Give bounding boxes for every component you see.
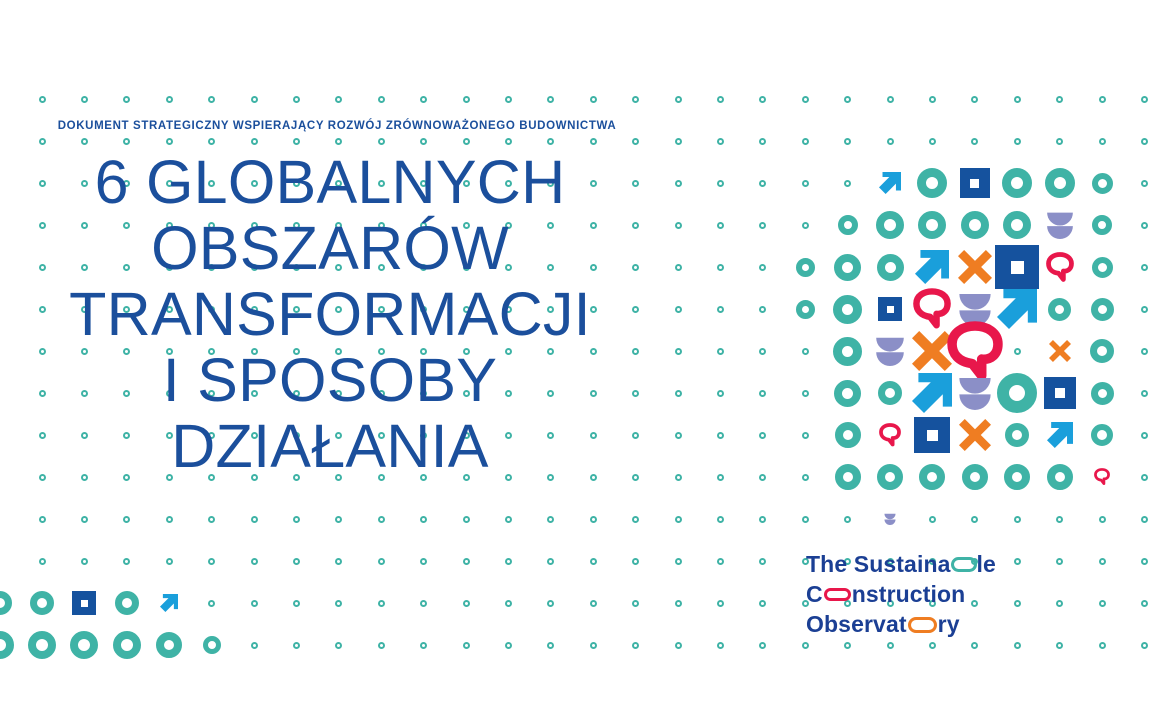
page-title-line-1: 6 GLOBALNYCH [28,150,632,216]
ring-dot-icon [208,516,215,523]
ring-dot-icon [844,516,851,523]
logo-line-3: Observatry [806,609,1066,639]
ring-icon [835,464,861,490]
double-bowl-icon [958,376,992,410]
ring-icon [1048,298,1071,321]
ring-icon [834,380,861,407]
page-title-line-4: I SPOSOBY [28,348,632,414]
ring-dot-icon [1141,432,1148,439]
ring-dot-icon [675,642,682,649]
logo-line-3-suffix: ry [938,611,960,637]
ring-dot-icon [1099,600,1106,607]
ring-dot-icon [463,600,470,607]
ring-icon [997,373,1037,413]
ring-icon [28,631,56,659]
ring-icon [203,636,221,654]
ring-dot-icon [293,600,300,607]
square-dot-icon [1044,377,1076,409]
logo-line-3-prefix: Observat [806,611,907,637]
arrow-up-right-icon [879,172,901,194]
ring-dot-icon [251,600,258,607]
ring-dot-icon [590,96,597,103]
ring-dot-icon [81,96,88,103]
ring-dot-icon [759,306,766,313]
ring-dot-icon [1141,96,1148,103]
ring-icon [1092,215,1112,235]
ring-dot-icon [420,558,427,565]
ring-dot-icon [420,96,427,103]
ring-dot-icon [39,96,46,103]
ring-dot-icon [1141,558,1148,565]
square-dot-icon [960,168,990,198]
ring-icon [1091,298,1114,321]
ring-dot-icon [717,642,724,649]
speech-bubble-icon [879,424,901,446]
ring-dot-icon [1141,306,1148,313]
ring-dot-icon [1141,390,1148,397]
ring-icon [876,211,904,239]
ring-dot-icon [717,306,724,313]
ring-dot-icon [1099,138,1106,145]
ring-dot-icon [759,600,766,607]
ring-dot-icon [717,390,724,397]
ring-dot-icon [802,642,809,649]
ring-icon [917,168,947,198]
page-title: 6 GLOBALNYCHOBSZARÓWTRANSFORMACJII SPOSO… [0,150,660,479]
ring-icon [877,254,904,281]
ring-icon [918,211,946,239]
square-dot-icon [914,417,950,453]
ring-dot-icon [675,600,682,607]
ring-icon [1045,168,1075,198]
ring-dot-icon [675,138,682,145]
ring-icon [0,631,14,659]
ring-dot-icon [590,558,597,565]
ring-dot-icon [717,432,724,439]
double-bowl-icon [1046,211,1074,239]
ring-dot-icon [675,180,682,187]
speech-bubble-icon [1046,253,1074,281]
square-dot-icon [878,297,902,321]
logo-line-1-prefix: The Sustaina [806,551,951,577]
slide-canvas: DOKUMENT STRATEGICZNY WSPIERAJĄCY ROZWÓJ… [0,0,1160,726]
ring-icon [1002,168,1032,198]
ring-dot-icon [1141,180,1148,187]
ring-dot-icon [929,96,936,103]
logo-pill-o-observatory-icon [908,617,937,633]
ring-dot-icon [929,642,936,649]
cross-x-icon [958,250,992,284]
ring-dot-icon [717,474,724,481]
ring-dot-icon [1056,516,1063,523]
ring-dot-icon [293,516,300,523]
ring-dot-icon [123,96,130,103]
ring-dot-icon [166,558,173,565]
ring-icon [30,591,54,615]
ring-dot-icon [887,96,894,103]
ring-dot-icon [675,432,682,439]
ring-dot-icon [123,516,130,523]
ring-dot-icon [759,516,766,523]
ring-dot-icon [802,138,809,145]
ring-dot-icon [463,642,470,649]
ring-dot-icon [1099,558,1106,565]
ring-dot-icon [971,642,978,649]
ring-icon [834,254,861,281]
ring-icon [1003,211,1031,239]
ring-dot-icon [1141,264,1148,271]
ring-dot-icon [251,96,258,103]
ring-dot-icon [759,390,766,397]
ring-dot-icon [632,516,639,523]
page-title-line-3: TRANSFORMACJI [28,282,632,348]
ring-dot-icon [1056,96,1063,103]
ring-dot-icon [632,600,639,607]
ring-dot-icon [1141,600,1148,607]
ring-icon [878,381,902,405]
ring-dot-icon [675,222,682,229]
ring-dot-icon [759,138,766,145]
ring-dot-icon [887,642,894,649]
ring-dot-icon [378,642,385,649]
ring-icon [796,300,815,319]
ring-dot-icon [590,600,597,607]
ring-dot-icon [802,222,809,229]
ring-dot-icon [1141,222,1148,229]
ring-icon [1004,464,1030,490]
ring-dot-icon [675,516,682,523]
ring-dot-icon [802,180,809,187]
title-block: DOKUMENT STRATEGICZNY WSPIERAJĄCY ROZWÓJ… [0,120,660,479]
logo-pill-o-construction-icon [824,588,851,601]
ring-dot-icon [547,558,554,565]
ring-dot-icon [1141,138,1148,145]
ring-dot-icon [1014,348,1021,355]
ring-dot-icon [547,96,554,103]
ring-dot-icon [717,96,724,103]
ring-dot-icon [802,390,809,397]
ring-dot-icon [887,138,894,145]
ring-icon [1091,424,1113,446]
ring-dot-icon [717,264,724,271]
page-title-line-5: DZIAŁANIA [28,414,632,480]
ring-dot-icon [717,180,724,187]
ring-dot-icon [929,138,936,145]
ring-dot-icon [675,474,682,481]
ring-icon [919,464,945,490]
ring-icon [835,422,861,448]
ring-dot-icon [166,96,173,103]
logo-pill-b-icon [951,557,977,572]
ring-dot-icon [463,516,470,523]
ring-dot-icon [420,516,427,523]
ring-dot-icon [335,642,342,649]
ring-dot-icon [335,600,342,607]
ring-dot-icon [675,390,682,397]
ring-dot-icon [844,642,851,649]
ring-icon [1090,339,1114,363]
ring-dot-icon [39,558,46,565]
ring-icon [1047,464,1073,490]
ring-dot-icon [1014,642,1021,649]
ring-dot-icon [844,180,851,187]
logo-line-1: The Sustainale [806,549,1066,579]
ring-dot-icon [759,180,766,187]
ring-dot-icon [929,516,936,523]
ring-icon [833,337,862,366]
arrow-up-right-icon [915,250,949,284]
ring-icon [833,295,862,324]
ring-icon [70,631,98,659]
ring-icon [962,464,988,490]
ring-icon [1091,382,1114,405]
ring-icon [838,215,858,235]
speech-bubble-icon [1094,469,1110,485]
ring-dot-icon [675,558,682,565]
ring-dot-icon [844,96,851,103]
ring-dot-icon [335,516,342,523]
arrow-up-right-icon [912,373,952,413]
logo-line-1-suffix: le [977,551,996,577]
ring-dot-icon [759,432,766,439]
ring-dot-icon [251,516,258,523]
ring-dot-icon [293,558,300,565]
ring-dot-icon [590,516,597,523]
ring-dot-icon [378,516,385,523]
ring-dot-icon [505,600,512,607]
ring-dot-icon [675,348,682,355]
cross-x-icon [959,419,991,451]
ring-dot-icon [1099,96,1106,103]
ring-dot-icon [81,516,88,523]
ring-dot-icon [717,600,724,607]
ring-dot-icon [1099,642,1106,649]
ring-dot-icon [335,558,342,565]
ring-dot-icon [802,348,809,355]
arrow-up-right-icon [160,594,178,612]
ring-dot-icon [675,96,682,103]
ring-dot-icon [675,264,682,271]
ring-dot-icon [505,558,512,565]
ring-dot-icon [632,558,639,565]
ring-icon [1005,423,1029,447]
ring-dot-icon [717,348,724,355]
ring-dot-icon [293,642,300,649]
ring-icon [113,631,141,659]
cross-x-icon [912,331,952,371]
ring-dot-icon [971,516,978,523]
ring-dot-icon [1141,642,1148,649]
ring-dot-icon [1141,348,1148,355]
ring-dot-icon [759,222,766,229]
ring-dot-icon [1141,474,1148,481]
ring-dot-icon [123,558,130,565]
ring-dot-icon [759,264,766,271]
ring-dot-icon [759,474,766,481]
double-bowl-icon [958,292,992,326]
ring-dot-icon [420,642,427,649]
ring-icon [877,464,903,490]
ring-dot-icon [463,558,470,565]
ring-dot-icon [675,306,682,313]
ring-dot-icon [1014,516,1021,523]
ring-dot-icon [632,96,639,103]
logo-sustainable-construction-observatory: The Sustainale Cnstruction Observatry [806,549,1066,639]
ring-dot-icon [759,348,766,355]
ring-dot-icon [1056,642,1063,649]
ring-dot-icon [971,96,978,103]
ring-dot-icon [420,600,427,607]
double-bowl-icon [884,513,896,525]
ring-dot-icon [505,96,512,103]
ring-dot-icon [632,642,639,649]
ring-dot-icon [717,558,724,565]
ring-dot-icon [208,96,215,103]
ring-dot-icon [166,516,173,523]
ring-dot-icon [251,642,258,649]
ring-dot-icon [293,96,300,103]
ring-dot-icon [802,474,809,481]
ring-dot-icon [759,96,766,103]
speech-bubble-icon [913,290,951,328]
ring-dot-icon [251,558,258,565]
ring-dot-icon [39,516,46,523]
logo-line-2: Cnstruction [806,579,1066,609]
ring-dot-icon [547,642,554,649]
ring-dot-icon [208,600,215,607]
ring-dot-icon [717,222,724,229]
ring-dot-icon [844,138,851,145]
arrow-up-right-icon [997,289,1037,329]
page-title-line-2: OBSZARÓW [28,216,632,282]
ring-dot-icon [505,642,512,649]
ring-dot-icon [208,558,215,565]
ring-dot-icon [802,516,809,523]
ring-icon [1092,173,1113,194]
ring-icon [115,591,139,615]
ring-icon [796,258,815,277]
ring-dot-icon [971,138,978,145]
ring-icon [961,211,989,239]
ring-icon [0,591,12,615]
ring-dot-icon [802,432,809,439]
double-bowl-icon [875,336,905,366]
arrow-up-right-icon [1047,422,1073,448]
ring-dot-icon [81,558,88,565]
ring-dot-icon [378,558,385,565]
speech-bubble-icon [947,323,1003,379]
logo-line-2-prefix: C [806,581,823,607]
ring-dot-icon [717,516,724,523]
ring-dot-icon [547,516,554,523]
kicker-label: DOKUMENT STRATEGICZNY WSPIERAJĄCY ROZWÓJ… [0,120,660,132]
ring-dot-icon [759,558,766,565]
ring-icon [1092,257,1113,278]
ring-dot-icon [717,138,724,145]
ring-dot-icon [335,96,342,103]
ring-dot-icon [1056,138,1063,145]
ring-icon [156,632,182,658]
ring-dot-icon [1014,138,1021,145]
ring-dot-icon [378,96,385,103]
square-dot-icon [72,591,96,615]
square-dot-icon [995,245,1039,289]
ring-dot-icon [759,642,766,649]
ring-dot-icon [378,600,385,607]
ring-dot-icon [1099,516,1106,523]
cross-x-icon [1049,340,1071,362]
ring-dot-icon [1141,516,1148,523]
ring-dot-icon [802,96,809,103]
ring-dot-icon [547,600,554,607]
ring-dot-icon [463,96,470,103]
ring-dot-icon [590,642,597,649]
ring-dot-icon [1014,96,1021,103]
logo-line-2-suffix: nstruction [852,581,966,607]
ring-dot-icon [505,516,512,523]
